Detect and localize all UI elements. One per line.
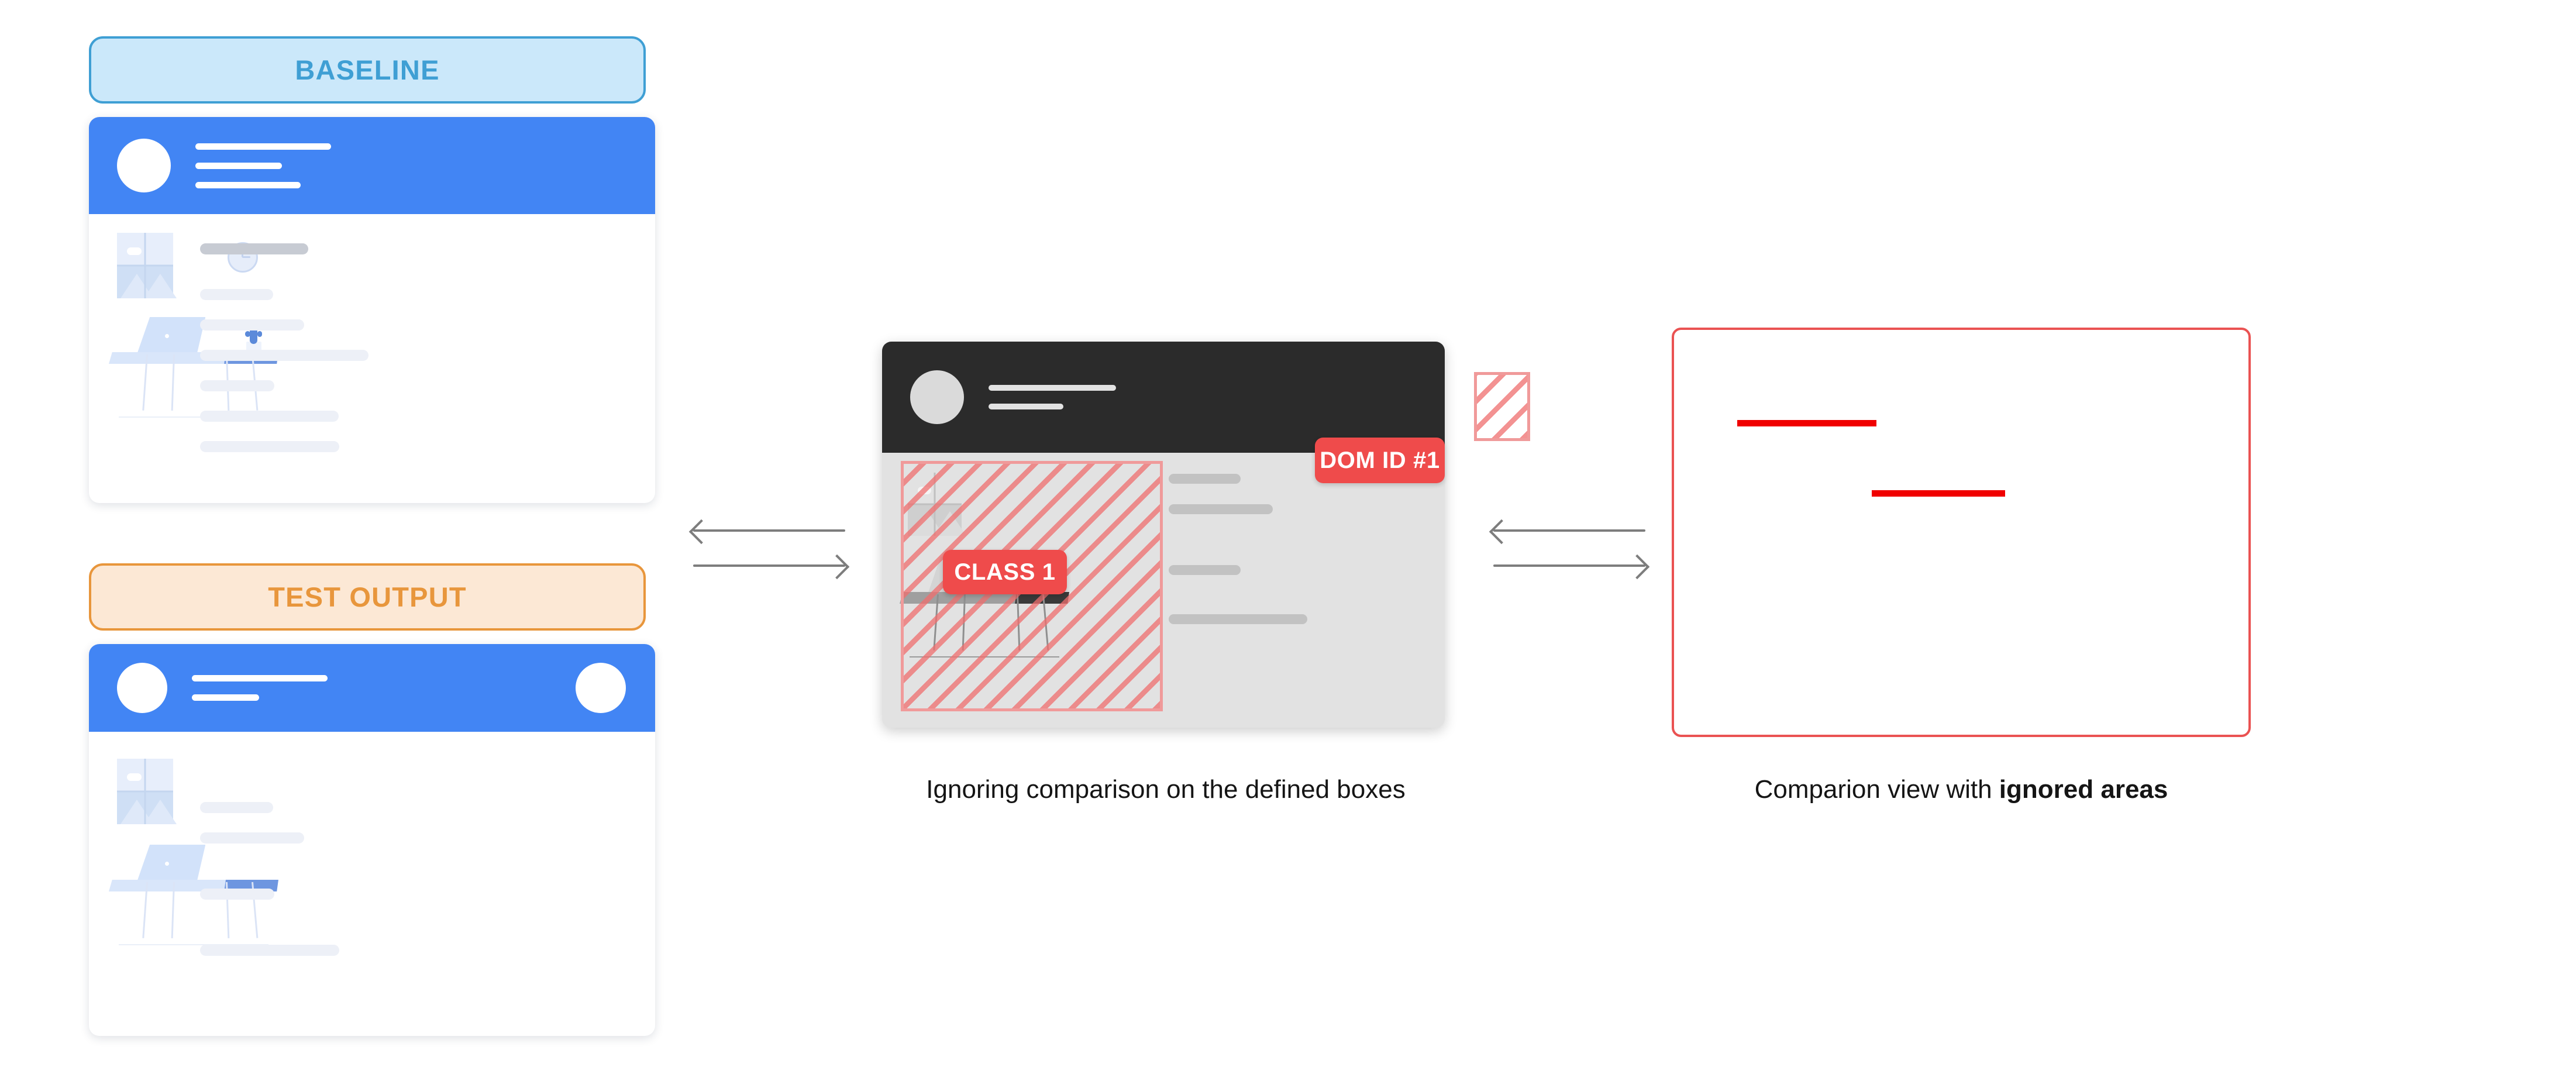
header-text-lines <box>192 675 328 701</box>
right-caption-bold: ignored areas <box>1999 775 2168 804</box>
badge-dom-id-text: DOM ID #1 <box>1320 447 1439 474</box>
ignored-card-header <box>882 342 1445 453</box>
header-line <box>192 675 328 681</box>
test-output-label-text: TEST OUTPUT <box>268 581 467 613</box>
right-caption-plain: Comparion view with <box>1755 775 1999 804</box>
comparison-view-card <box>1672 328 2251 737</box>
test-output-card-header <box>89 644 655 732</box>
header-text-lines <box>989 385 1116 409</box>
arrow-right <box>1493 564 1645 567</box>
arrow-right <box>693 564 845 567</box>
header-line <box>195 143 331 150</box>
skeleton-line-title <box>200 243 308 254</box>
avatar-circle-icon <box>910 370 964 424</box>
test-output-card-body <box>89 732 655 1036</box>
skeleton-line <box>1169 614 1307 624</box>
skeleton-line <box>200 802 273 813</box>
center-caption: Ignoring comparison on the defined boxes <box>884 775 1447 804</box>
right-caption: Comparion view with ignored areas <box>1672 775 2251 804</box>
arrow-left <box>693 529 845 532</box>
baseline-card-body <box>89 214 655 503</box>
skeleton-line <box>1169 565 1241 575</box>
window-illustration-icon <box>117 759 173 824</box>
arrow-group-left <box>693 518 845 582</box>
desk-laptop-illustration <box>109 828 278 945</box>
diagram-canvas: BASELINE <box>0 0 2576 1081</box>
skeleton-line <box>200 319 304 331</box>
baseline-mock-card <box>89 117 655 503</box>
test-output-label-pill: TEST OUTPUT <box>89 563 646 631</box>
arrow-group-right <box>1493 518 1645 582</box>
skeleton-line <box>200 289 273 300</box>
header-text-lines <box>195 143 331 188</box>
baseline-label-pill: BASELINE <box>89 36 646 104</box>
skeleton-line <box>1169 504 1273 514</box>
badge-dom-id: DOM ID #1 <box>1315 438 1445 483</box>
skeleton-line <box>200 889 274 900</box>
avatar-circle-icon <box>117 139 171 192</box>
header-line <box>195 182 301 188</box>
diff-highlight-bar <box>1737 420 1876 426</box>
skeleton-line <box>200 945 339 956</box>
skeleton-line <box>200 441 339 452</box>
skeleton-line <box>200 350 369 361</box>
test-output-mock-card <box>89 644 655 1036</box>
header-line <box>989 385 1116 391</box>
diff-highlight-bar <box>1872 490 2005 497</box>
ignored-region-avatar <box>1474 372 1530 441</box>
skeleton-line <box>200 411 339 422</box>
badge-class-1: CLASS 1 <box>943 550 1067 594</box>
baseline-card-header <box>89 117 655 214</box>
baseline-label-text: BASELINE <box>295 54 439 86</box>
center-caption-text: Ignoring comparison on the defined boxes <box>926 775 1405 804</box>
skeleton-line <box>200 380 274 391</box>
badge-class-1-text: CLASS 1 <box>954 559 1055 586</box>
skeleton-line <box>1169 474 1241 484</box>
header-line <box>195 163 282 169</box>
window-illustration-icon <box>117 233 173 298</box>
skeleton-line <box>200 832 304 844</box>
header-line <box>989 404 1063 409</box>
arrow-left <box>1493 529 1645 532</box>
avatar-circle-icon <box>117 663 167 713</box>
header-line <box>192 694 259 701</box>
avatar-circle-right-icon <box>576 663 626 713</box>
